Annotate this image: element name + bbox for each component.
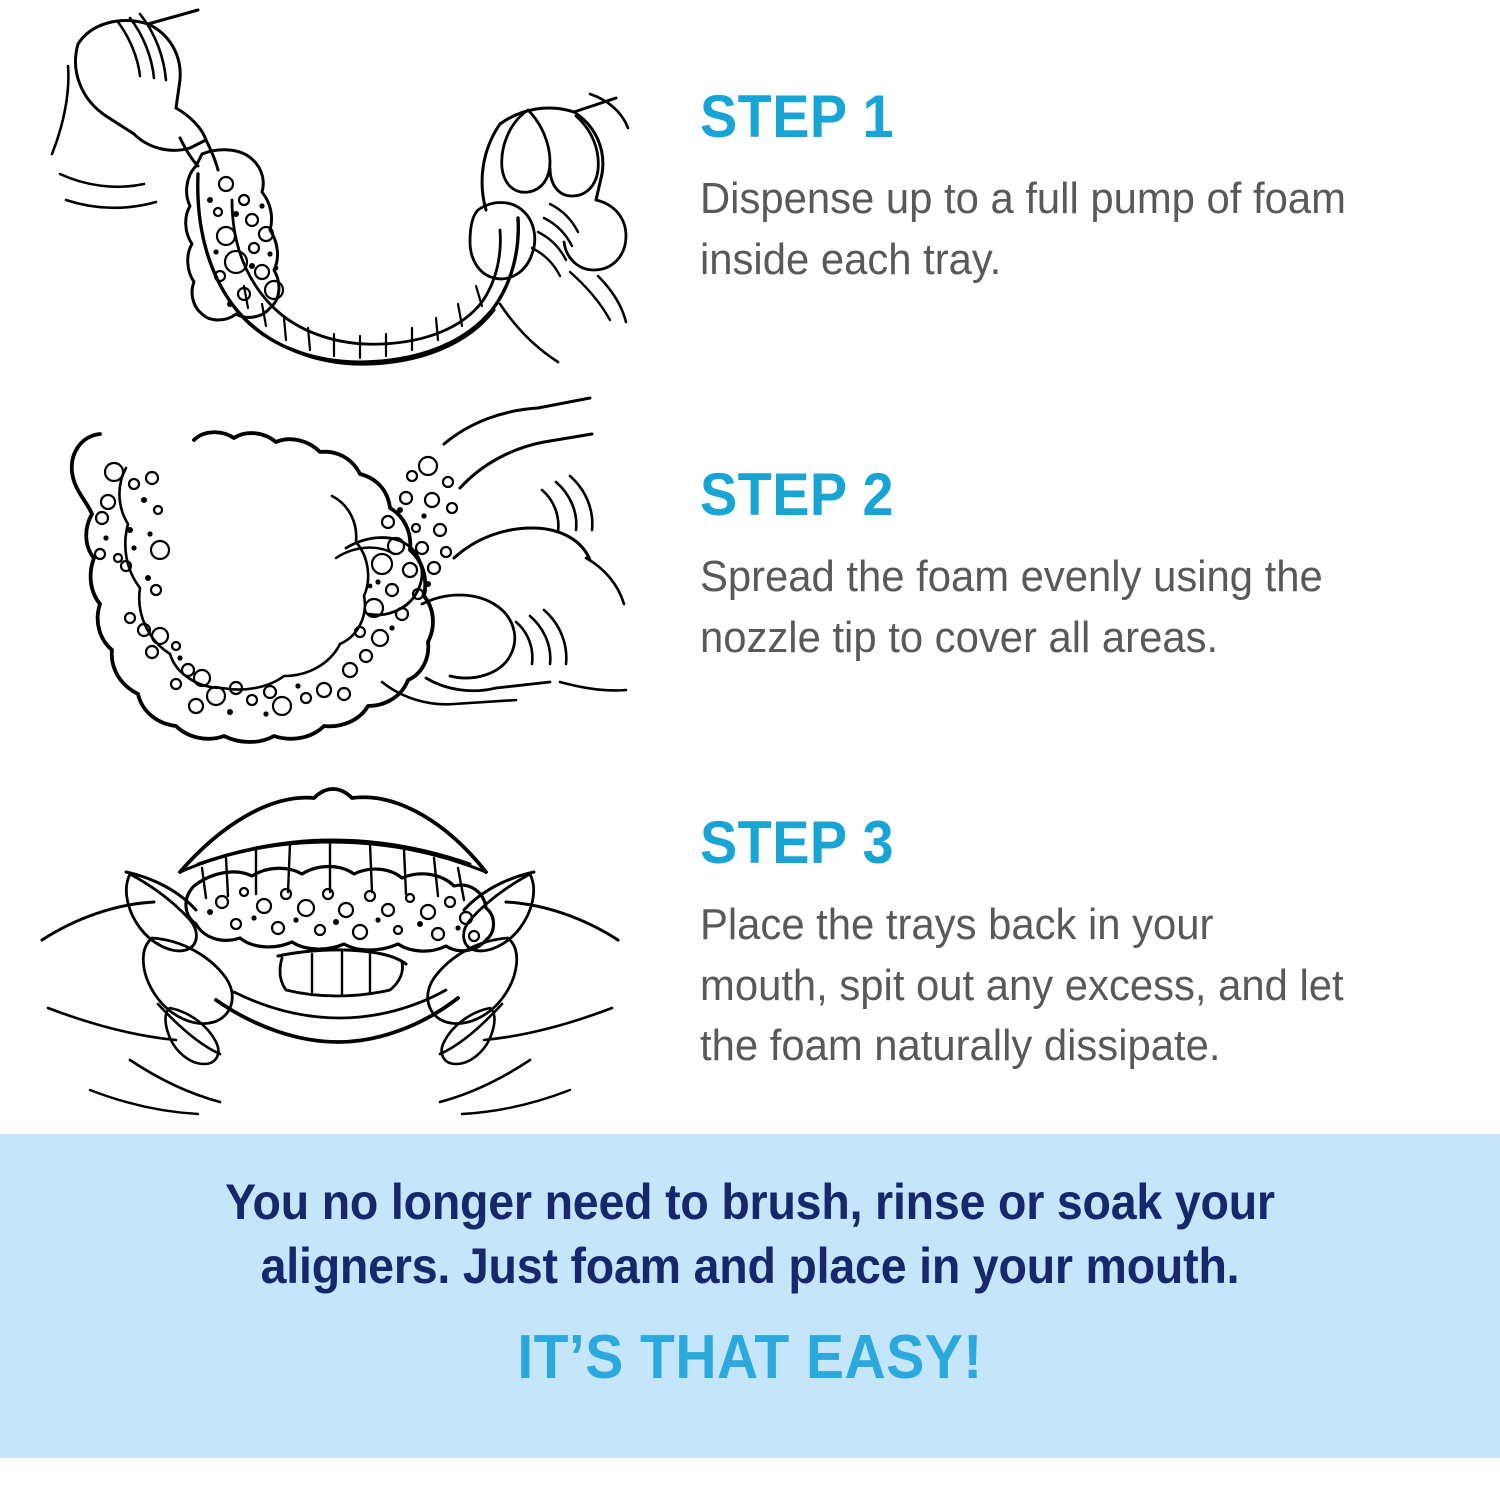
banner-line-1: You no longer need to brush, rinse or so… xyxy=(173,1170,1326,1234)
step-1-text: STEP 1 Dispense up to a full pump of foa… xyxy=(660,87,1500,290)
banner-line-2: aligners. Just foam and place in your mo… xyxy=(173,1234,1326,1298)
step-1-body: Dispense up to a full pump of foam insid… xyxy=(700,169,1346,290)
step-3-body: Place the trays back in your mouth, spit… xyxy=(700,895,1346,1077)
step-2-heading: STEP 2 xyxy=(700,465,1332,525)
step-3-heading: STEP 3 xyxy=(700,813,1332,873)
step-row: STEP 2 Spread the foam evenly using the … xyxy=(0,378,1500,756)
step-3-illustration xyxy=(0,756,660,1134)
step-1-illustration xyxy=(0,0,660,378)
step-3-text: STEP 3 Place the trays back in your mout… xyxy=(660,813,1500,1077)
step-2-text: STEP 2 Spread the foam evenly using the … xyxy=(660,465,1500,668)
summary-banner: You no longer need to brush, rinse or so… xyxy=(0,1134,1500,1458)
step-row: STEP 1 Dispense up to a full pump of foa… xyxy=(0,0,1500,378)
instructions-infographic: STEP 1 Dispense up to a full pump of foa… xyxy=(0,0,1500,1500)
step-2-body: Spread the foam evenly using the nozzle … xyxy=(700,547,1346,668)
step-1-heading: STEP 1 xyxy=(700,87,1332,147)
step-row: STEP 3 Place the trays back in your mout… xyxy=(0,756,1500,1134)
step-2-illustration xyxy=(0,378,660,756)
steps-section: STEP 1 Dispense up to a full pump of foa… xyxy=(0,0,1500,1134)
banner-tagline: IT’S THAT EASY! xyxy=(60,1324,1440,1392)
